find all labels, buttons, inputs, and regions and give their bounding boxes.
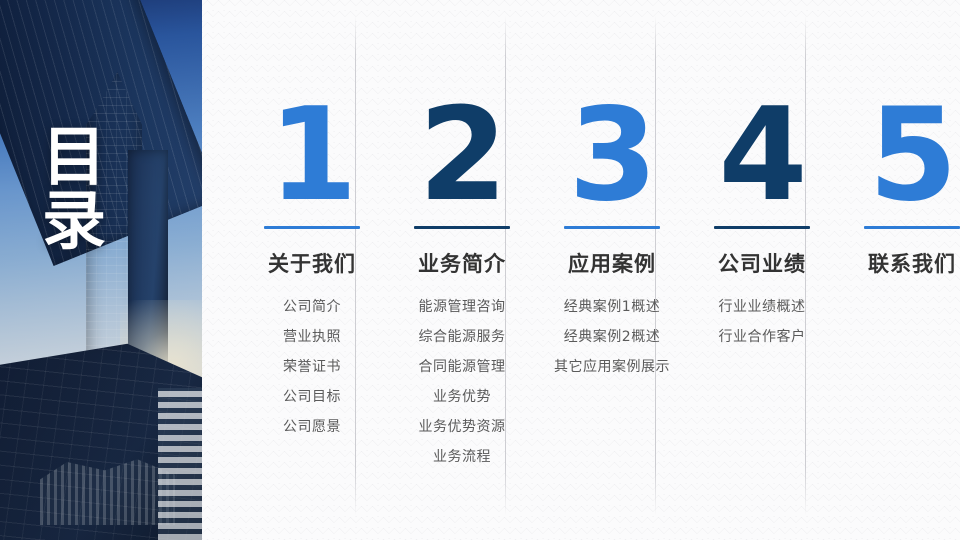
page-title-char-1: 目 [42, 126, 162, 190]
page-title: 目 录 [42, 126, 162, 254]
list-item[interactable]: 业务优势 [387, 382, 537, 412]
section-underline-4 [714, 226, 810, 229]
photo-tint-overlay [0, 0, 202, 540]
list-item[interactable]: 公司目标 [237, 382, 387, 412]
list-item[interactable]: 营业执照 [237, 322, 387, 352]
list-item[interactable]: 行业业绩概述 [687, 292, 837, 322]
section-underline-3 [564, 226, 660, 229]
section-items-1: 公司简介 营业执照 荣誉证书 公司目标 公司愿景 [237, 292, 387, 442]
list-item[interactable]: 经典案例1概述 [537, 292, 687, 322]
section-number-5: 5 [837, 92, 960, 220]
toc-columns: 1 关于我们 公司简介 营业执照 荣誉证书 公司目标 公司愿景 2 业务简介 能… [202, 0, 960, 540]
toc-section-4[interactable]: 4 公司业绩 行业业绩概述 行业合作客户 [687, 0, 837, 540]
section-items-4: 行业业绩概述 行业合作客户 [687, 292, 837, 352]
list-item[interactable]: 经典案例2概述 [537, 322, 687, 352]
section-heading-2[interactable]: 业务简介 [387, 248, 537, 278]
section-underline-2 [414, 226, 510, 229]
list-item[interactable]: 公司愿景 [237, 412, 387, 442]
section-heading-4[interactable]: 公司业绩 [687, 248, 837, 278]
list-item[interactable]: 合同能源管理 [387, 352, 537, 382]
section-number-1: 1 [237, 92, 387, 220]
section-number-2: 2 [387, 92, 537, 220]
section-items-2: 能源管理咨询 综合能源服务 合同能源管理 业务优势 业务优势资源 业务流程 [387, 292, 537, 472]
section-underline-1 [264, 226, 360, 229]
list-item[interactable]: 其它应用案例展示 [537, 352, 687, 382]
toc-section-5[interactable]: 5 联系我们 [837, 0, 960, 540]
section-number-4: 4 [687, 92, 837, 220]
skyscraper-photo: 目 录 [0, 0, 202, 540]
list-item[interactable]: 公司简介 [237, 292, 387, 322]
toc-section-2[interactable]: 2 业务简介 能源管理咨询 综合能源服务 合同能源管理 业务优势 业务优势资源 … [387, 0, 537, 540]
section-number-3: 3 [537, 92, 687, 220]
list-item[interactable]: 荣誉证书 [237, 352, 387, 382]
page-title-char-2: 录 [42, 190, 162, 254]
catalog-slide: 目 录 1 关于我们 公司简介 营业执照 荣誉证书 公司目标 公司愿景 2 业务 [0, 0, 960, 540]
list-item[interactable]: 业务优势资源 [387, 412, 537, 442]
section-heading-3[interactable]: 应用案例 [537, 248, 687, 278]
toc-section-1[interactable]: 1 关于我们 公司简介 营业执照 荣誉证书 公司目标 公司愿景 [237, 0, 387, 540]
section-underline-5 [864, 226, 960, 229]
toc-section-3[interactable]: 3 应用案例 经典案例1概述 经典案例2概述 其它应用案例展示 [537, 0, 687, 540]
list-item[interactable]: 综合能源服务 [387, 322, 537, 352]
list-item[interactable]: 行业合作客户 [687, 322, 837, 352]
section-heading-5[interactable]: 联系我们 [837, 248, 960, 278]
list-item[interactable]: 业务流程 [387, 442, 537, 472]
section-heading-1[interactable]: 关于我们 [237, 248, 387, 278]
section-items-3: 经典案例1概述 经典案例2概述 其它应用案例展示 [537, 292, 687, 382]
list-item[interactable]: 能源管理咨询 [387, 292, 537, 322]
